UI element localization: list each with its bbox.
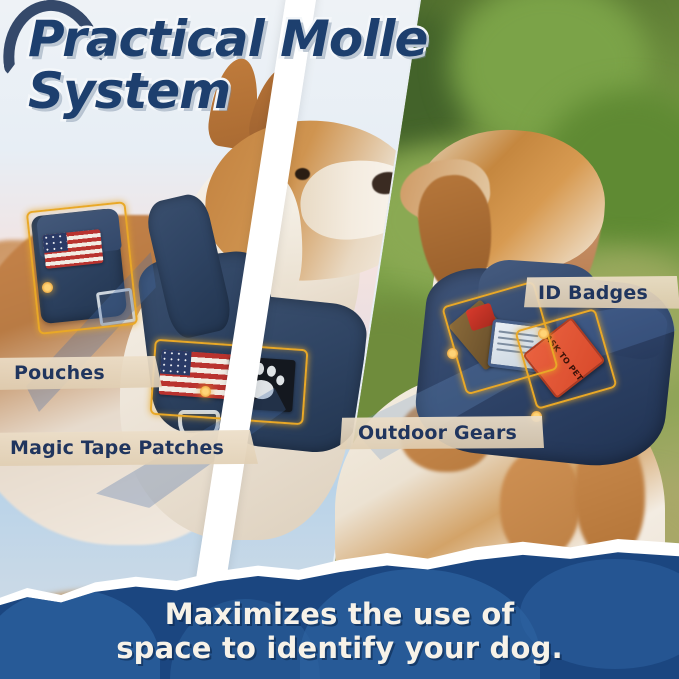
bottom-banner-text: Maximizes the use of space to identify y… (0, 597, 679, 665)
callout-magic-tape-patches: Magic Tape Patches (0, 430, 258, 466)
callout-id-badges-label: ID Badges (538, 282, 648, 304)
product-feature-image: ASK TO PET Practical Molle System Pouche… (0, 0, 679, 679)
pouch-highlight-outline (26, 201, 138, 335)
title-line-2: System (28, 66, 427, 116)
highlight-node (447, 348, 458, 359)
callout-outdoor-gears-label: Outdoor Gears (358, 422, 517, 444)
left-dog-eye (295, 168, 310, 180)
callout-pouches: Pouches (0, 356, 162, 390)
bottom-banner-line-2: space to identify your dog. (0, 631, 679, 665)
callout-pouches-label: Pouches (14, 362, 105, 384)
page-title: Practical Molle System (28, 14, 427, 116)
bottom-banner-line-1: Maximizes the use of (0, 597, 679, 631)
highlight-node (42, 282, 53, 293)
title-line-1: Practical Molle (28, 14, 427, 64)
highlight-node (200, 386, 211, 397)
callout-id-badges: ID Badges (524, 276, 679, 310)
callout-magic-tape-patches-label: Magic Tape Patches (10, 437, 224, 459)
highlight-node (538, 328, 549, 339)
callout-outdoor-gears: Outdoor Gears (340, 416, 544, 450)
